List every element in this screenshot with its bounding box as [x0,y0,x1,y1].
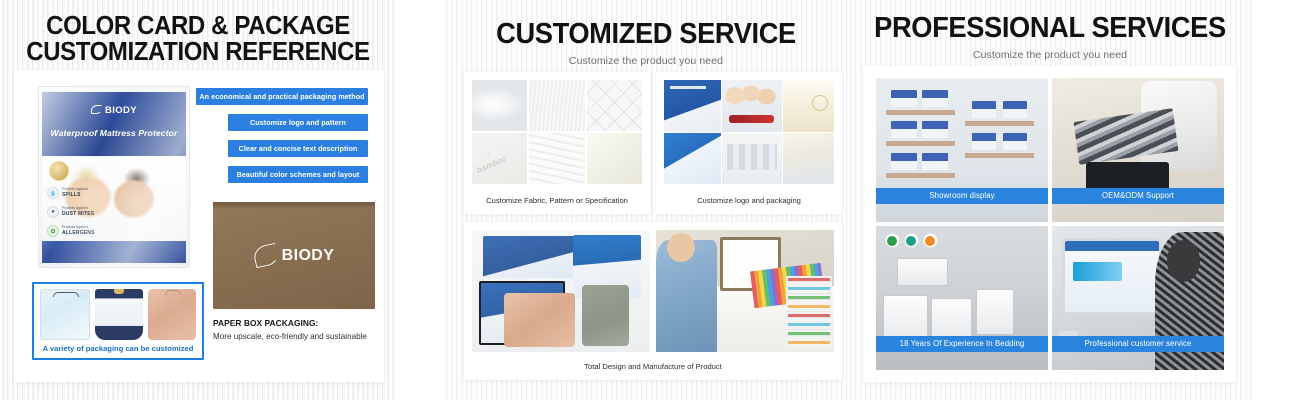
packaging-variety-items [34,284,202,340]
fabric-swatch [529,80,584,131]
package-header-band: BIODY Waterproof Mattress Protector [42,92,186,156]
page-subtitle-right: Customize the product you need [848,49,1252,61]
total-design-images [472,230,834,352]
brand-mark-icon [252,243,280,269]
drawstring-bag-image [95,289,143,340]
page-title-left: COLOR CARD & PACKAGE CUSTOMIZATION REFER… [12,0,384,65]
fabric-swatch-grid: bamboo [472,80,642,184]
droplet-icon: 💧 [47,187,59,199]
fabric-swatch-bamboo: bamboo [472,133,527,184]
paper-box-body: More upscale, eco-friendly and sustainab… [213,331,383,343]
collage-tile [722,133,782,185]
fabric-swatch [587,80,642,131]
services-card: Showroom display OEM&ODM Support [864,66,1236,382]
product-package-photo: BIODY Waterproof Mattress Protector 💧 Pr… [38,86,190,268]
panel-gap-1 [396,0,444,400]
photo-oem-odm-support: OEM&ODM Support [1052,78,1224,222]
title-line-2: CUSTOMIZATION REFERENCE [12,39,384,65]
package-footer-band [42,241,186,263]
page-title-right: PROFESSIONAL SERVICES [860,0,1240,44]
right-panel-heading: PROFESSIONAL SERVICES Customize the prod… [848,0,1252,61]
designer-workstation-photo [656,230,834,352]
callout-bar-1: An economical and practical packaging me… [196,88,368,105]
total-design-card: Total Design and Manufacture of Product [464,222,842,380]
packaging-variety-caption: A variety of packaging can be customized [34,340,202,358]
collage-tile [783,80,834,132]
package-brand-name: BIODY [105,105,137,116]
page-title-middle: CUSTOMIZED SERVICE [456,0,836,50]
panel-customized-service: CUSTOMIZED SERVICE Customize the product… [444,0,848,400]
monitor-screen [1065,241,1159,313]
callout-bar-3: Clear and concise text description [228,140,368,157]
sample-rose-gold-case [504,293,575,347]
certificate-badge-icon [923,233,938,248]
title-line-1: COLOR CARD & PACKAGE [46,12,350,40]
package-feature-list: 💧 Protects Against SPILLS ● Protects Aga… [47,187,95,244]
photo-customer-service: Professional customer service [1052,226,1224,370]
callout-bar-2: Customize logo and pattern [228,114,368,131]
fabric-swatch [587,133,642,184]
certificate-badge-icon [904,233,919,248]
feature-text: Protects Against SPILLS [62,187,88,199]
feature-text: Protects Against DUST MITES [62,206,94,218]
feature-callout-list: An economical and practical packaging me… [196,88,368,192]
certificate-badge-icon [885,233,900,248]
packaging-variety-box: A variety of packaging can be customized [32,282,204,360]
bamboo-label: bamboo [476,153,509,174]
services-photo-grid: Showroom display OEM&ODM Support [876,78,1224,370]
box-brand-name: BIODY [282,247,335,265]
fabric-swatch-caption: Customize Fabric, Pattern or Specificati… [464,196,650,205]
feature-item: ✿ Protects Against ALLERGENS [47,225,95,237]
packaging-samples-photo [472,230,650,352]
color-chart-sheet [786,276,832,347]
fabric-swatch-card: bamboo Customize Fabric, Pattern or Spec… [464,72,650,214]
total-design-caption: Total Design and Manufacture of Product [464,362,842,371]
panel-color-card-customization: COLOR CARD & PACKAGE CUSTOMIZATION REFER… [0,0,396,400]
collage-tile [783,133,834,185]
logo-packaging-caption: Customize logo and packaging [656,196,842,205]
photo-showroom-display: Showroom display [876,78,1048,222]
caption-customer-service: Professional customer service [1052,336,1224,352]
certification-badges [885,233,938,248]
packaging-collage [664,80,834,184]
designer-person [656,240,717,352]
page-subtitle-middle: Customize the product you need [444,55,848,67]
leaf-icon: ✿ [47,225,59,237]
collage-tile [722,80,782,132]
caption-oem-odm-support: OEM&ODM Support [1052,188,1224,204]
logo-packaging-card: Customize logo and packaging [656,72,842,214]
rose-gold-case-image [148,289,196,340]
fabric-swatch [472,80,527,131]
product-detail-banner: COLOR CARD & PACKAGE CUSTOMIZATION REFER… [0,0,1300,400]
callout-bar-4: Beautiful color schemes and layout [228,166,368,183]
brand-swoosh-icon [91,105,102,114]
photo-factory-experience: 18 Years Of Experience In Bedding [876,226,1048,370]
caption-factory-experience: 18 Years Of Experience In Bedding [876,336,1048,352]
desktop-monitor [1062,238,1162,316]
paper-box-photo: BIODY [213,202,375,309]
feature-item: ● Protects Against DUST MITES [47,206,95,218]
middle-panel-heading: CUSTOMIZED SERVICE Customize the product… [444,0,848,67]
paper-box-heading: PAPER BOX PACKAGING: [213,318,383,328]
left-panel-heading: COLOR CARD & PACKAGE CUSTOMIZATION REFER… [0,0,396,65]
package-product-name: Waterproof Mattress Protector [42,128,186,138]
sample-encasement-pack [483,236,576,277]
fabric-swatch [529,133,584,184]
paper-box-description: PAPER BOX PACKAGING: More upscale, eco-f… [213,318,383,343]
package-brand-logo: BIODY [42,105,186,116]
feature-text: Protects Against ALLERGENS [62,225,95,237]
quality-badge-icon [49,161,69,181]
box-brand-logo: BIODY [213,202,375,309]
left-content-card: BIODY Waterproof Mattress Protector 💧 Pr… [14,70,384,382]
panel-professional-services: PROFESSIONAL SERVICES Customize the prod… [848,0,1252,400]
collage-tile [664,80,721,132]
sample-sage-case [582,285,628,346]
pvc-zip-bag-image [40,289,90,340]
caption-showroom-display: Showroom display [876,188,1048,204]
collage-tile [664,133,721,185]
feature-item: 💧 Protects Against SPILLS [47,187,95,199]
bug-icon: ● [47,206,59,218]
